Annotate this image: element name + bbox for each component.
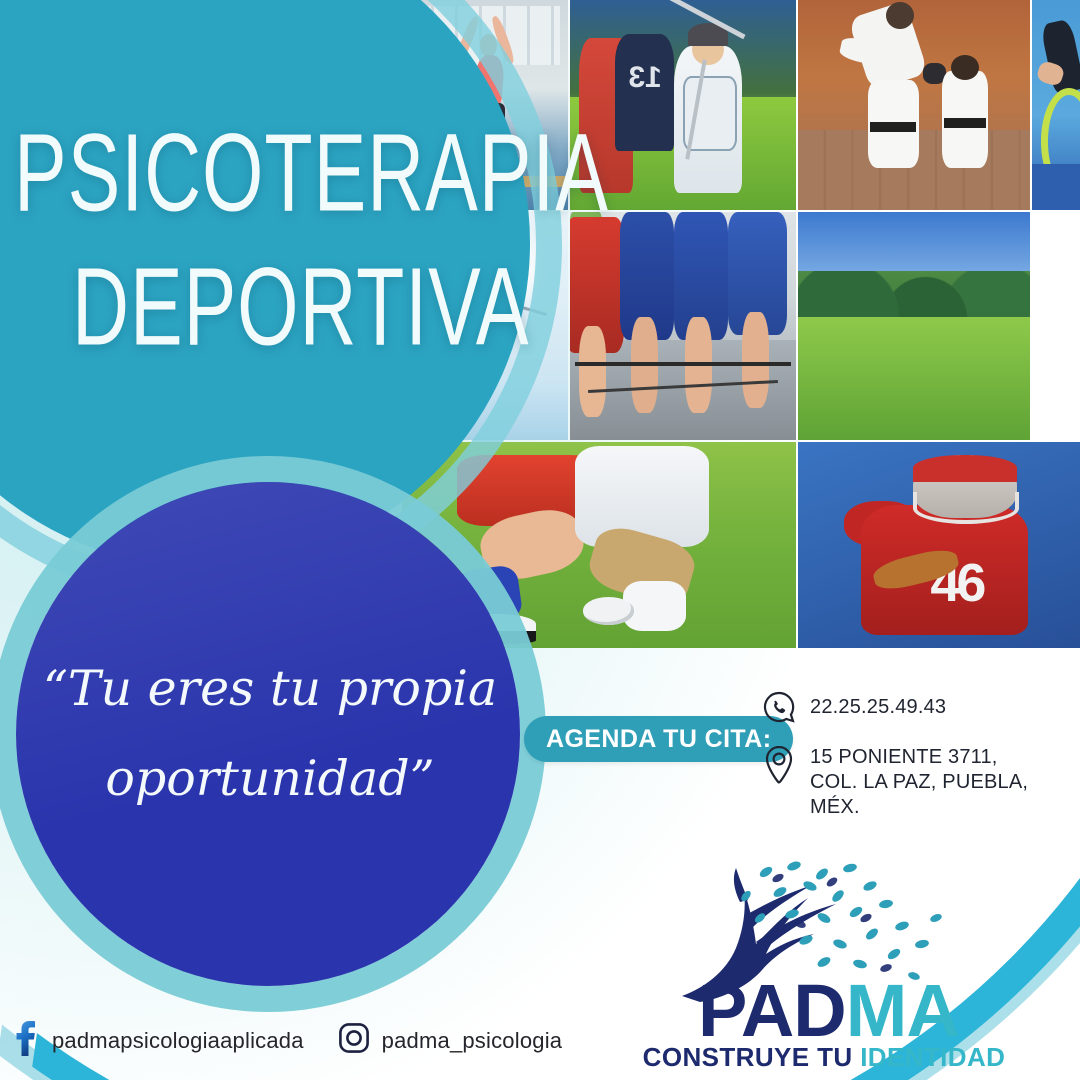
agenda-cta-badge[interactable]: AGENDA TU CITA: [524, 716, 793, 762]
agenda-cta-label: AGENDA TU CITA: [546, 725, 771, 754]
title-line-1: PSICOTERAPIA [14, 118, 484, 227]
instagram-handle: padma_psicologia [382, 1028, 563, 1054]
padma-logo: PADMA CONSTRUYE TU IDENTIDAD [612, 856, 1022, 1056]
quote-text: “Tu eres tu propia oportunidad” [36, 652, 504, 815]
whatsapp-phone-icon [762, 690, 798, 729]
tagline-part1: CONSTRUYE TU [643, 1042, 861, 1072]
logo-tagline: CONSTRUYE TU IDENTIDAD [624, 1042, 1024, 1073]
wheelchair-athlete-photo [1032, 0, 1080, 210]
poster-canvas: 13 [0, 0, 1080, 1080]
logo-name-part2: MA [846, 969, 959, 1052]
taekwondo-photo [798, 0, 1030, 210]
phone-number: 22.25.25.49.43 [810, 690, 946, 720]
social-links: padmapsicologiaaplicada padma_psicologia [10, 1018, 562, 1063]
title-line-2: DEPORTIVA [72, 252, 487, 361]
facebook-link[interactable]: padmapsicologiaaplicada [10, 1018, 304, 1063]
quote-line-2: oportunidad” [36, 742, 504, 816]
logo-name-part1: PAD [698, 969, 846, 1052]
instagram-icon [338, 1022, 370, 1059]
lacrosse-jersey-number: 13 [627, 63, 663, 92]
contact-block: 22.25.25.49.43 15 PONIENTE 3711, COL. LA… [762, 690, 1080, 836]
logo-wordmark: PADMA [698, 974, 1028, 1048]
contact-address-row[interactable]: 15 PONIENTE 3711, COL. LA PAZ, PUEBLA, M… [762, 745, 1080, 820]
contact-phone-row[interactable]: 22.25.25.49.43 [762, 690, 1080, 729]
page-title: PSICOTERAPIA DEPORTIVA [14, 118, 514, 335]
tagline-part2: IDENTIDAD [860, 1042, 1005, 1072]
facebook-icon [10, 1018, 40, 1063]
address: 15 PONIENTE 3711, COL. LA PAZ, PUEBLA, M… [810, 745, 1080, 820]
address-line-1: 15 PONIENTE 3711, [810, 746, 998, 768]
quote-line-1: “Tu eres tu propia [43, 660, 497, 717]
map-pin-icon [762, 745, 798, 790]
facebook-handle: padmapsicologiaaplicada [52, 1028, 304, 1054]
address-line-2: COL. LA PAZ, PUEBLA, MÉX. [810, 771, 1028, 818]
instagram-link[interactable]: padma_psicologia [338, 1022, 563, 1059]
